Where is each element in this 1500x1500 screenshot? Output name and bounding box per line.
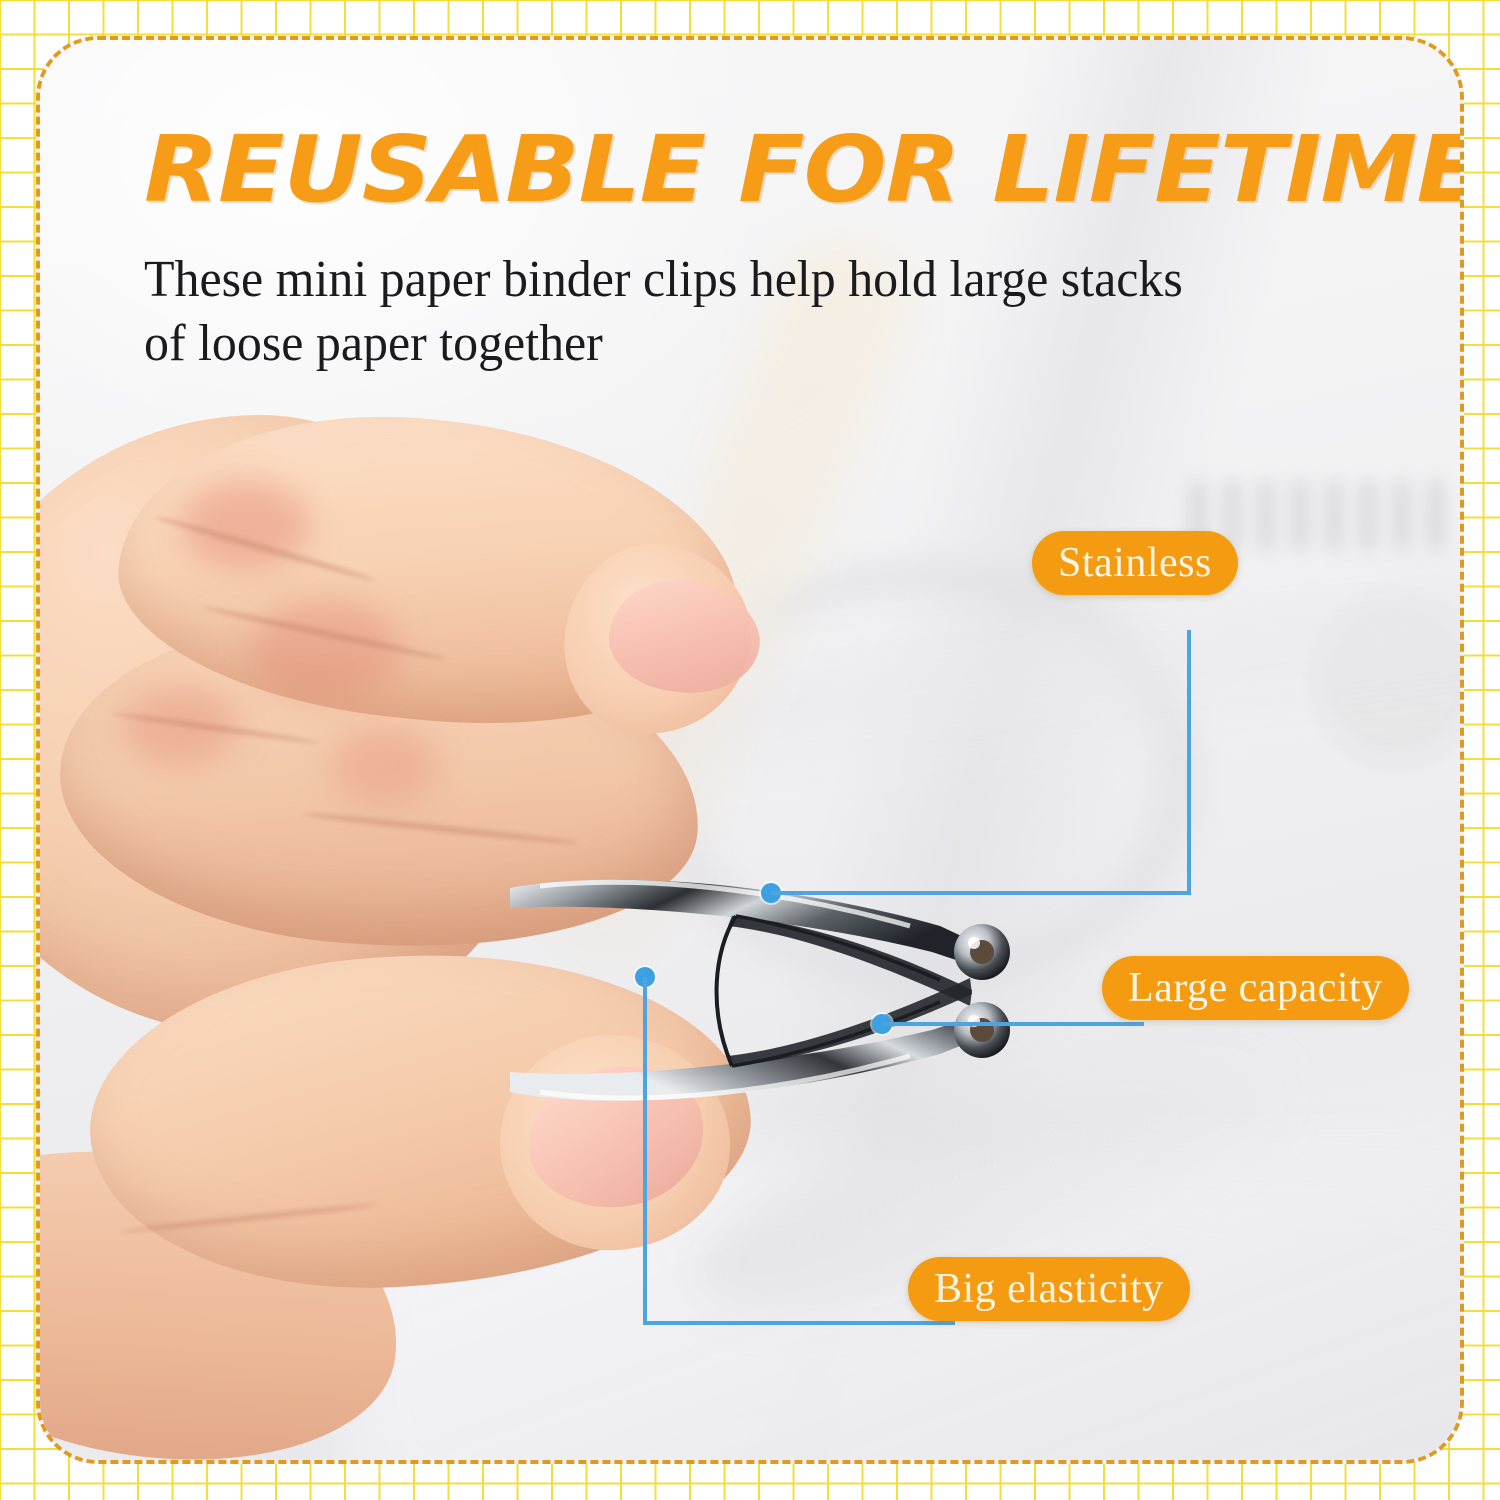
clip-spring-wire <box>717 916 736 1066</box>
callout-label-large-capacity: Large capacity <box>1128 964 1383 1012</box>
callout-line-big-elasticity-vertical <box>643 977 647 1325</box>
callout-line-stainless-vertical <box>1187 630 1191 895</box>
callout-line-large-capacity <box>882 1022 1144 1026</box>
page-subline: These mini paper binder clips help hold … <box>144 248 1219 376</box>
callout-label-stainless: Stainless <box>1058 539 1212 587</box>
product-photo-card: Stainless Large capacity Big elasticity … <box>36 36 1464 1464</box>
callout-line-stainless-horizontal <box>771 891 1191 895</box>
callout-pill-big-elasticity[interactable]: Big elasticity <box>908 1257 1190 1321</box>
callout-pill-large-capacity[interactable]: Large capacity <box>1102 956 1409 1020</box>
clip-upper-knob-highlight <box>968 937 980 949</box>
background-comb-blur <box>1190 480 1460 550</box>
knuckle-blush <box>250 600 400 700</box>
knuckle-blush <box>330 725 440 805</box>
binder-clip-product <box>470 830 1090 1150</box>
page-headline: REUSABLE FOR LIFETIME <box>144 118 1464 222</box>
poster-canvas: Stainless Large capacity Big elasticity … <box>0 0 1500 1500</box>
callout-pill-stainless[interactable]: Stainless <box>1032 531 1238 595</box>
callout-line-big-elasticity-horizontal <box>643 1321 955 1325</box>
callout-label-big-elasticity: Big elasticity <box>934 1265 1164 1313</box>
